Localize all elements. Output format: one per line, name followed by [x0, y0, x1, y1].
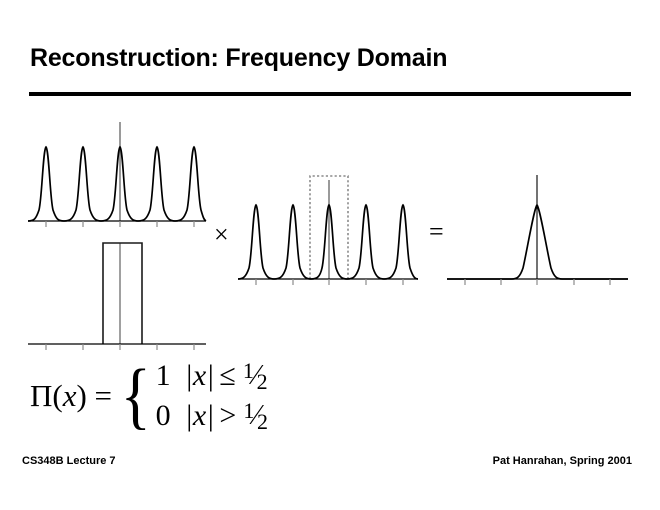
chart-spectrum-with-filter: [238, 176, 418, 285]
title-divider: [29, 92, 631, 96]
relation-operator: ≤: [219, 359, 235, 393]
equation-left-hand-side: Π(x) =: [30, 378, 112, 414]
footer-author-label: Pat Hanrahan, Spring 2001: [493, 455, 632, 467]
fraction-denominator: 2: [257, 409, 268, 435]
fraction-one-half: 1 ⁄ 2: [243, 400, 270, 432]
spectrum-curve: [238, 205, 418, 279]
fraction-denominator: 2: [257, 369, 268, 395]
equals-part: ) =: [76, 378, 112, 413]
fraction-numerator: 1: [243, 398, 254, 424]
chart-box-filter: [28, 243, 206, 350]
case-value: 1: [156, 359, 171, 393]
abs-close: |: [206, 399, 214, 433]
box-filter-curve: [103, 243, 142, 344]
equation-case-row: 0 | x | > 1 ⁄ 2: [156, 397, 270, 435]
box-function-equation: Π(x) = { 1 | x | ≤ 1 ⁄ 2 0 | x | >: [30, 356, 270, 436]
abs-open: |: [185, 359, 193, 393]
chart-spectrum-replicated: [28, 122, 206, 227]
case-value: 0: [156, 399, 171, 433]
x-axis-ticks: [46, 221, 194, 227]
filter-window-rect: [310, 176, 348, 279]
x-axis-ticks: [465, 279, 610, 285]
abs-close: |: [206, 359, 214, 393]
relation-operator: >: [219, 399, 236, 433]
left-curly-brace: {: [121, 366, 151, 427]
x-axis-ticks: [46, 344, 194, 350]
fraction-one-half: 1 ⁄ 2: [243, 360, 270, 392]
fraction-numerator: 1: [243, 358, 254, 384]
page-title: Reconstruction: Frequency Domain: [30, 44, 447, 73]
slide-canvas: Reconstruction: Frequency Domain: [0, 0, 660, 510]
multiplication-operator: ×: [214, 222, 229, 248]
equals-operator: =: [429, 219, 444, 245]
equation-cases: 1 | x | ≤ 1 ⁄ 2 0 | x | > 1 ⁄: [156, 357, 270, 435]
reconstructed-curve: [447, 205, 628, 279]
spectrum-curve: [28, 147, 206, 221]
footer-lecture-label: CS348B Lecture 7: [22, 455, 116, 467]
variable-x: x: [63, 378, 77, 413]
x-axis-ticks: [256, 279, 403, 285]
abs-open: |: [185, 399, 193, 433]
pi-symbol: Π(: [30, 378, 63, 413]
abs-variable: x: [193, 359, 206, 393]
equation-case-row: 1 | x | ≤ 1 ⁄ 2: [156, 357, 270, 395]
abs-variable: x: [193, 399, 206, 433]
chart-reconstructed-spectrum: [447, 175, 628, 285]
